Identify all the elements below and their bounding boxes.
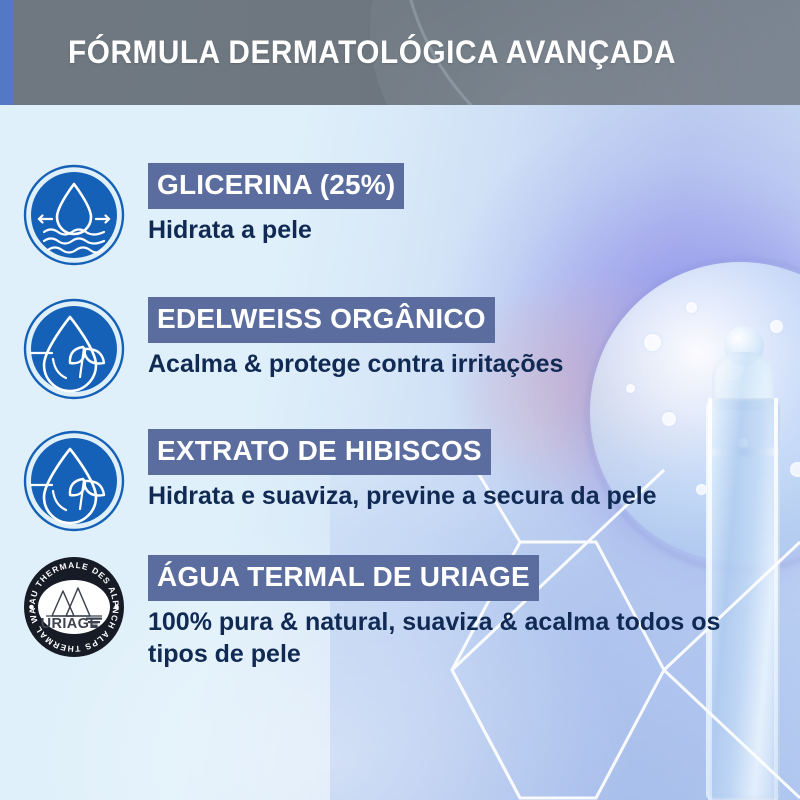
product-ingredients-poster: FÓRMULA DERMATOLÓGICA AVANÇADA: [0, 0, 800, 800]
ingredient-description: Acalma & protege contra irritações: [148, 349, 723, 381]
ingredient-description: Hidrata e suaviza, previne a secura da p…: [148, 481, 723, 513]
ingredient-title: EXTRATO DE HIBISCOS: [148, 429, 491, 475]
ingredient-text-cell: EDELWEISS ORGÂNICO Acalma & protege cont…: [148, 297, 800, 381]
header-accent-bar: [0, 0, 13, 105]
water-drop-leaf-icon: [22, 429, 126, 533]
ingredient-icon-cell: [0, 429, 148, 533]
ingredient-icon-cell: L'EAU THERMALE DES ALPES FRENCH ALPS THE…: [0, 555, 148, 659]
ingredient-list: GLICERINA (25%) Hidrata a pele EDE: [0, 105, 800, 670]
ingredient-text-cell: EXTRATO DE HIBISCOS Hidrata e suaviza, p…: [148, 429, 800, 513]
header-banner: FÓRMULA DERMATOLÓGICA AVANÇADA: [0, 0, 800, 105]
ingredient-title: GLICERINA (25%): [148, 163, 404, 209]
water-drop-leaf-icon: [22, 297, 126, 401]
ingredient-text-cell: ÁGUA TERMAL DE URIAGE 100% pura & natura…: [148, 555, 800, 670]
water-drop-hydration-icon: [22, 163, 126, 267]
ingredient-text-cell: GLICERINA (25%) Hidrata a pele: [148, 163, 800, 247]
ingredient-title: ÁGUA TERMAL DE URIAGE: [148, 555, 539, 601]
ingredient-item[interactable]: L'EAU THERMALE DES ALPES FRENCH ALPS THE…: [0, 555, 800, 670]
ingredient-item[interactable]: GLICERINA (25%) Hidrata a pele: [0, 163, 800, 267]
ingredient-description: Hidrata a pele: [148, 215, 723, 247]
ingredient-item[interactable]: EXTRATO DE HIBISCOS Hidrata e suaviza, p…: [0, 429, 800, 533]
ingredient-icon-cell: [0, 163, 148, 267]
ingredient-icon-cell: [0, 297, 148, 401]
ingredient-item[interactable]: EDELWEISS ORGÂNICO Acalma & protege cont…: [0, 297, 800, 401]
ingredient-title: EDELWEISS ORGÂNICO: [148, 297, 495, 343]
page-title: FÓRMULA DERMATOLÓGICA AVANÇADA: [68, 0, 676, 105]
uriage-thermal-water-logo: L'EAU THERMALE DES ALPES FRENCH ALPS THE…: [22, 555, 126, 659]
ingredient-description: 100% pura & natural, suaviza & acalma to…: [148, 607, 723, 670]
